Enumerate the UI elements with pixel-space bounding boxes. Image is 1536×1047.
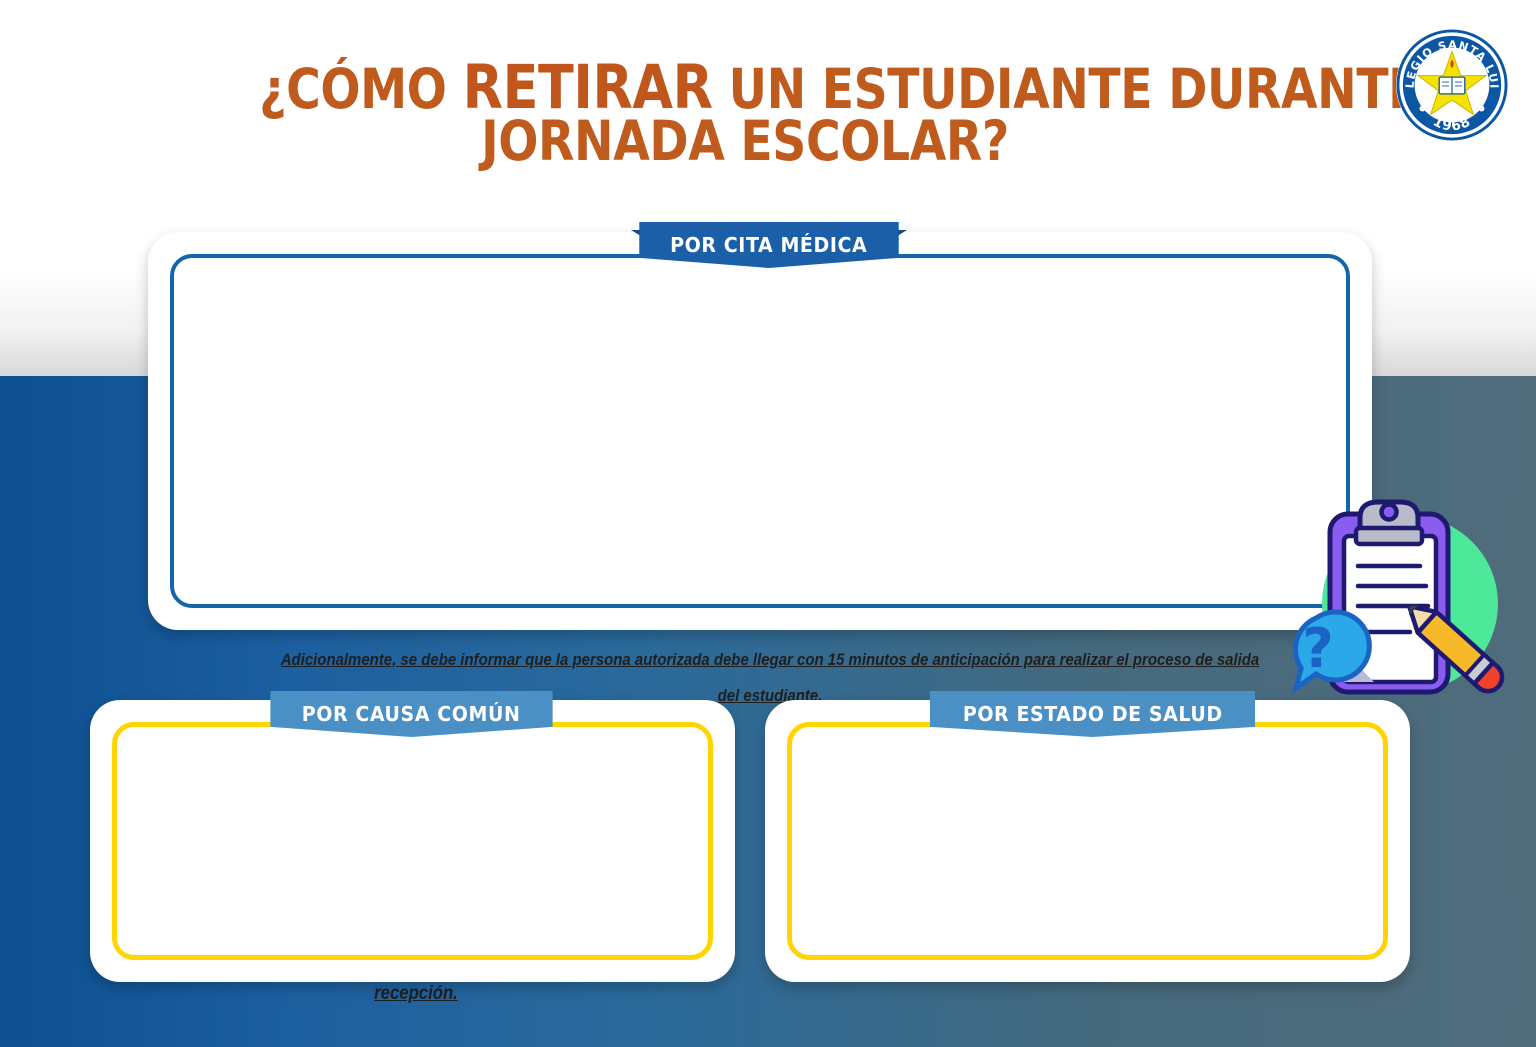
page-title-line-1: ¿CÓMO RETIRAR UN ESTUDIANTE DURANTE LA <box>259 62 1231 115</box>
banner-causa-comun-label: POR CAUSA COMÚN <box>302 702 521 726</box>
banner-causa-comun-body: POR CAUSA COMÚN <box>270 691 552 737</box>
banner-cita-medica-body: POR CITA MÉDICA <box>639 222 898 268</box>
banner-causa-comun: POR CAUSA COMÚN <box>303 691 520 737</box>
card-causa-comun <box>90 700 735 982</box>
card-cita-medica-inner-border <box>170 254 1350 608</box>
card-cita-medica <box>148 232 1372 630</box>
banner-estado-de-salud-label: POR ESTADO DE SALUD <box>963 702 1223 726</box>
banner-cita-medica-label: POR CITA MÉDICA <box>670 233 867 257</box>
card-estado-de-salud-inner-border <box>787 722 1388 960</box>
page-title: ¿CÓMO RETIRAR UN ESTUDIANTE DURANTE LA J… <box>180 62 1310 167</box>
clipboard-pencil-question-icon: ? <box>1268 492 1520 710</box>
banner-estado-de-salud: POR ESTADO DE SALUD <box>982 691 1203 737</box>
colegio-santa-luisa-logo: COLEGIO SANTA LUISA 1968 <box>1393 26 1511 144</box>
svg-text:?: ? <box>1302 617 1333 680</box>
card-causa-comun-inner-border <box>112 722 713 960</box>
title-prefix: ¿CÓMO <box>259 57 463 121</box>
banner-cita-medica: POR CITA MÉDICA <box>661 222 877 268</box>
page-title-line-2: JORNADA ESCOLAR? <box>259 115 1231 167</box>
card-estado-de-salud <box>765 700 1410 982</box>
